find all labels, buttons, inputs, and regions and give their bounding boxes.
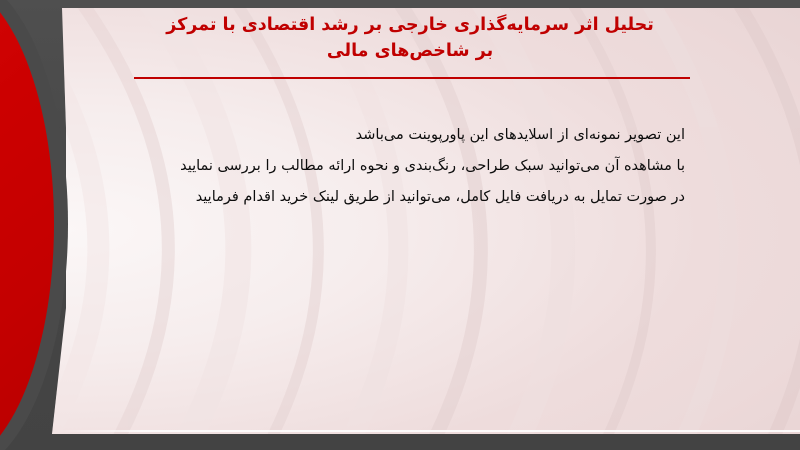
slide-body-line-1: این تصویر نمونه‌ای از اسلایدهای این پاور… (113, 120, 685, 151)
presentation-slide: تحلیل اثر سرمایه‌گذاری خارجی بر رشد اقتص… (0, 0, 800, 450)
slide-body-line-3: در صورت تمایل به دریافت فایل کامل، می‌تو… (113, 182, 685, 213)
title-underline-rule (134, 77, 690, 79)
background-ripple-pattern (0, 8, 800, 434)
slide-body-line-2: با مشاهده آن می‌توانید سبک طراحی، رنگ‌بن… (113, 151, 685, 182)
slide-body-text: این تصویر نمونه‌ای از اسلایدهای این پاور… (113, 120, 685, 213)
slide-title: تحلیل اثر سرمایه‌گذاری خارجی بر رشد اقتص… (120, 12, 700, 64)
slide-title-line-2: بر شاخص‌های مالی (120, 38, 700, 64)
slide-content-panel (0, 8, 800, 434)
slide-title-line-1: تحلیل اثر سرمایه‌گذاری خارجی بر رشد اقتص… (120, 12, 700, 38)
panel-bottom-highlight (52, 430, 800, 432)
